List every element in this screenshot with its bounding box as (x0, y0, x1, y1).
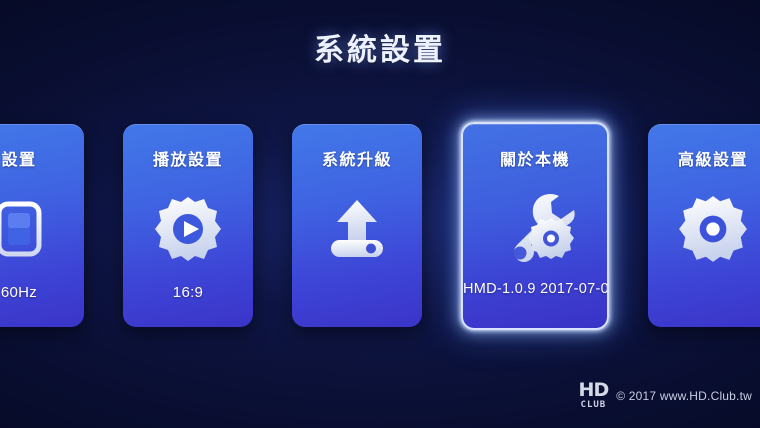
settings-card-about-device[interactable]: 關於本機 (461, 122, 609, 330)
settings-card-advanced-settings[interactable]: 高級設置 (648, 124, 760, 327)
card-subtitle: 16:9 (123, 284, 253, 301)
logo-bottom-text: CLUB (581, 401, 607, 410)
display-monitor-icon (0, 187, 84, 271)
watermark: HD CLUB © 2017 www.HD.Club.tw (579, 381, 752, 410)
card-subtitle: HMD-1.0.9 2017-07-0 (463, 281, 607, 297)
wrench-gear-icon (463, 187, 607, 271)
hdclub-logo-icon: HD CLUB (579, 381, 609, 410)
card-subtitle: 60Hz (0, 284, 84, 301)
settings-screen: 系統設置 設置 60Hz 播放設置 (0, 0, 760, 428)
settings-card-display-settings[interactable]: 設置 60Hz (0, 124, 84, 327)
logo-top-text: HD (579, 381, 609, 400)
gear-icon (648, 187, 760, 271)
settings-card-system-upgrade[interactable]: 系統升級 (292, 124, 422, 327)
watermark-text: © 2017 www.HD.Club.tw (616, 389, 752, 403)
card-title: 設置 (1, 146, 36, 170)
card-title: 高級設置 (678, 146, 748, 170)
card-title: 播放設置 (153, 146, 223, 170)
card-title: 關於本機 (500, 146, 570, 170)
card-title: 系統升級 (322, 146, 392, 170)
upload-arrow-icon (292, 187, 422, 271)
settings-card-row: 設置 60Hz 播放設置 (0, 124, 760, 334)
page-title: 系統設置 (0, 25, 760, 69)
settings-card-playback-settings[interactable]: 播放設置 16:9 (123, 124, 253, 327)
gear-play-icon (123, 187, 253, 271)
